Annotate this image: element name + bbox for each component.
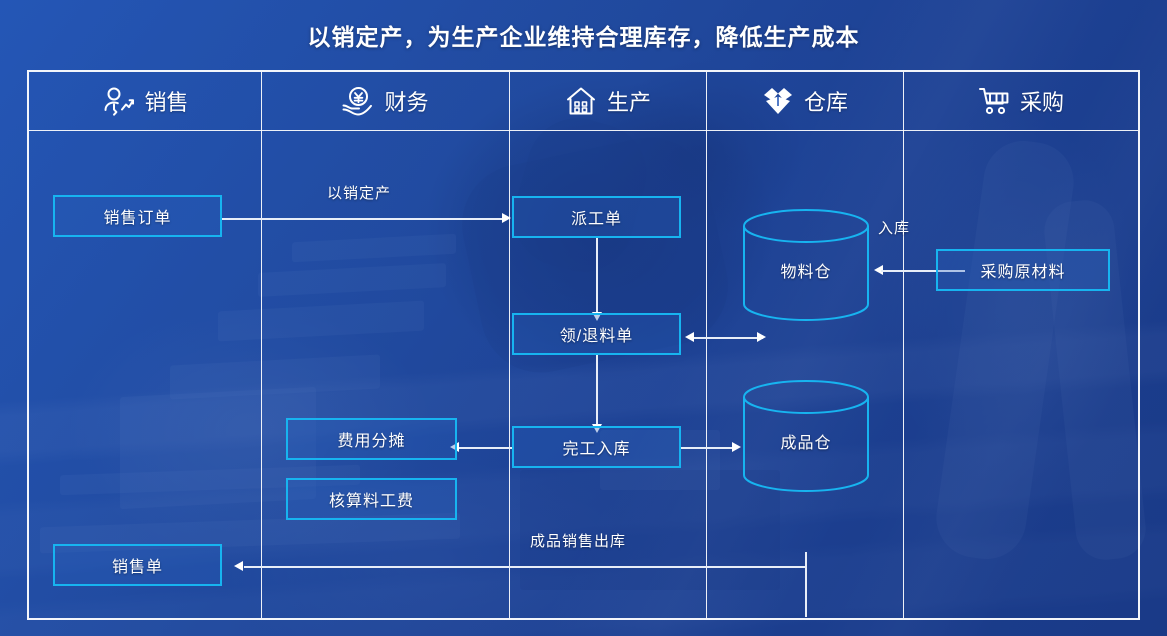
column-header-production[interactable]: 生产 [509,72,706,130]
store-label: 物料仓 [742,258,870,282]
edge-goods-store-to-sales-invoice [244,566,807,568]
column-divider-3 [706,72,707,618]
shopping-cart-icon [977,84,1011,118]
open-box-icon [761,84,795,118]
store-goods-warehouse[interactable]: 成品仓 [742,379,870,493]
diagram-frame: 销售 财务 [27,70,1140,620]
column-divider-2 [509,72,510,618]
node-finish-inbound[interactable]: 完工入库 [512,426,681,468]
node-sales-order[interactable]: 销售订单 [53,195,222,237]
node-purchase-material[interactable]: 采购原材料 [936,249,1110,291]
diagram-canvas: 以销定产，为生产企业维持合理库存，降低生产成本 销售 [0,0,1167,636]
column-header-finance[interactable]: 财务 [261,72,509,130]
store-material-warehouse[interactable]: 物料仓 [742,208,870,322]
column-header-label: 采购 [1020,85,1064,117]
column-header-purchasing[interactable]: 采购 [903,72,1138,130]
edge-purchase-to-material-store-2 [881,270,911,272]
edge-arrowhead [502,213,511,223]
node-cost-allocation[interactable]: 费用分摊 [286,418,457,460]
node-work-order[interactable]: 派工单 [512,196,681,238]
hand-yuan-coin-icon [341,84,375,118]
edge-arrowhead [234,561,243,571]
column-header-label: 销售 [144,85,188,117]
edge-label-goods-outbound: 成品销售出库 [530,530,626,551]
edge-finish-inbound-to-cost-allocation [457,447,512,449]
person-chart-icon [101,84,135,118]
edge-arrowhead [757,332,766,342]
column-divider-1 [261,72,262,618]
edge-goods-store-down [805,552,807,617]
column-header-sales[interactable]: 销售 [29,72,261,130]
column-divider-4 [903,72,904,618]
edge-work-order-to-material-req [596,238,598,314]
column-header-warehouse[interactable]: 仓库 [706,72,903,130]
node-sales-invoice[interactable]: 销售单 [53,544,222,586]
node-material-req[interactable]: 领/退料单 [512,313,681,355]
header-divider [29,130,1138,131]
column-header-label: 生产 [607,85,651,117]
edge-finish-inbound-to-goods-store [680,447,736,449]
edge-material-req-to-finish-inbound [596,354,598,426]
edge-arrowhead [685,332,694,342]
column-header-label: 仓库 [804,85,848,117]
edge-sales-order-to-work-order [222,218,506,220]
edge-arrowhead [732,442,741,452]
column-header-label: 财务 [384,85,428,117]
edge-label-make-to-order: 以销定产 [327,182,391,203]
store-label: 成品仓 [742,429,870,453]
edge-label-inbound: 入库 [878,217,910,238]
edge-material-req-to-store [692,337,763,339]
node-labor-material-cost[interactable]: 核算料工费 [286,478,457,520]
page-title: 以销定产，为生产企业维持合理库存，降低生产成本 [0,18,1167,52]
factory-house-icon [564,84,598,118]
